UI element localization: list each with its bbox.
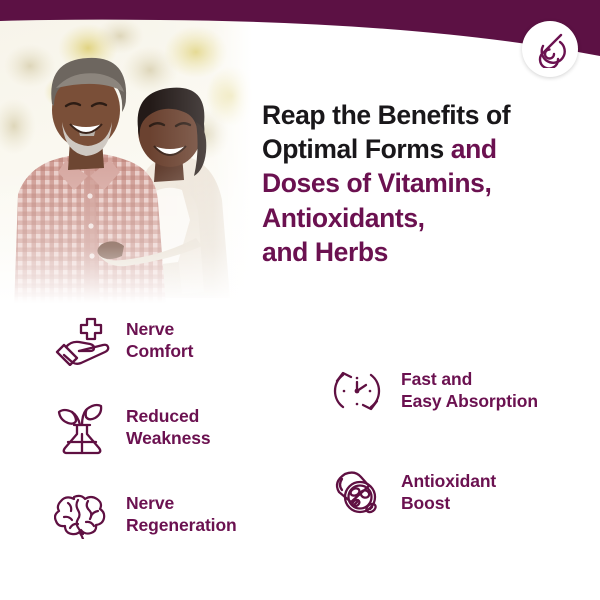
capsule-with-cells-icon (327, 464, 387, 522)
headline-line-2-plum: and (444, 134, 497, 164)
benefit-item-fast-easy-absorption: Fast and Easy Absorption (327, 362, 592, 420)
benefit-item-antioxidant-boost: Antioxidant Boost (327, 464, 592, 522)
headline-line-1: Reap the Benefits of (262, 100, 510, 130)
spiral-droplet-logo-icon (531, 30, 569, 68)
benefit-label: Reduced Weakness (126, 406, 211, 450)
clock-with-arrows-icon (327, 362, 387, 420)
benefit-label: Antioxidant Boost (401, 471, 496, 515)
benefit-item-reduced-weakness: Reduced Weakness (52, 399, 302, 457)
benefits-column-left: Nerve Comfort Reduced Wea (52, 312, 302, 573)
benefit-item-nerve-regeneration: Nerve Regeneration (52, 486, 302, 544)
flask-with-plant-icon (52, 399, 112, 457)
page-title: Reap the Benefits of Optimal Forms and D… (262, 98, 592, 269)
benefits-column-right: Fast and Easy Absorption (327, 362, 592, 566)
benefit-label: Nerve Comfort (126, 319, 193, 363)
headline-line-3: Doses of Vitamins, (262, 168, 491, 198)
couple-photo (0, 18, 252, 303)
benefit-item-nerve-comfort: Nerve Comfort (52, 312, 302, 370)
headline-line-2-dark: Optimal Forms (262, 134, 444, 164)
headline-line-5: and Herbs (262, 237, 388, 267)
brain-icon (52, 486, 112, 544)
benefit-label: Fast and Easy Absorption (401, 369, 538, 413)
hand-holding-medical-cross-icon (52, 312, 112, 370)
infographic-poster: Reap the Benefits of Optimal Forms and D… (0, 0, 600, 600)
headline-line-4: Antioxidants, (262, 203, 425, 233)
brand-logo (522, 21, 578, 77)
benefit-label: Nerve Regeneration (126, 493, 237, 537)
